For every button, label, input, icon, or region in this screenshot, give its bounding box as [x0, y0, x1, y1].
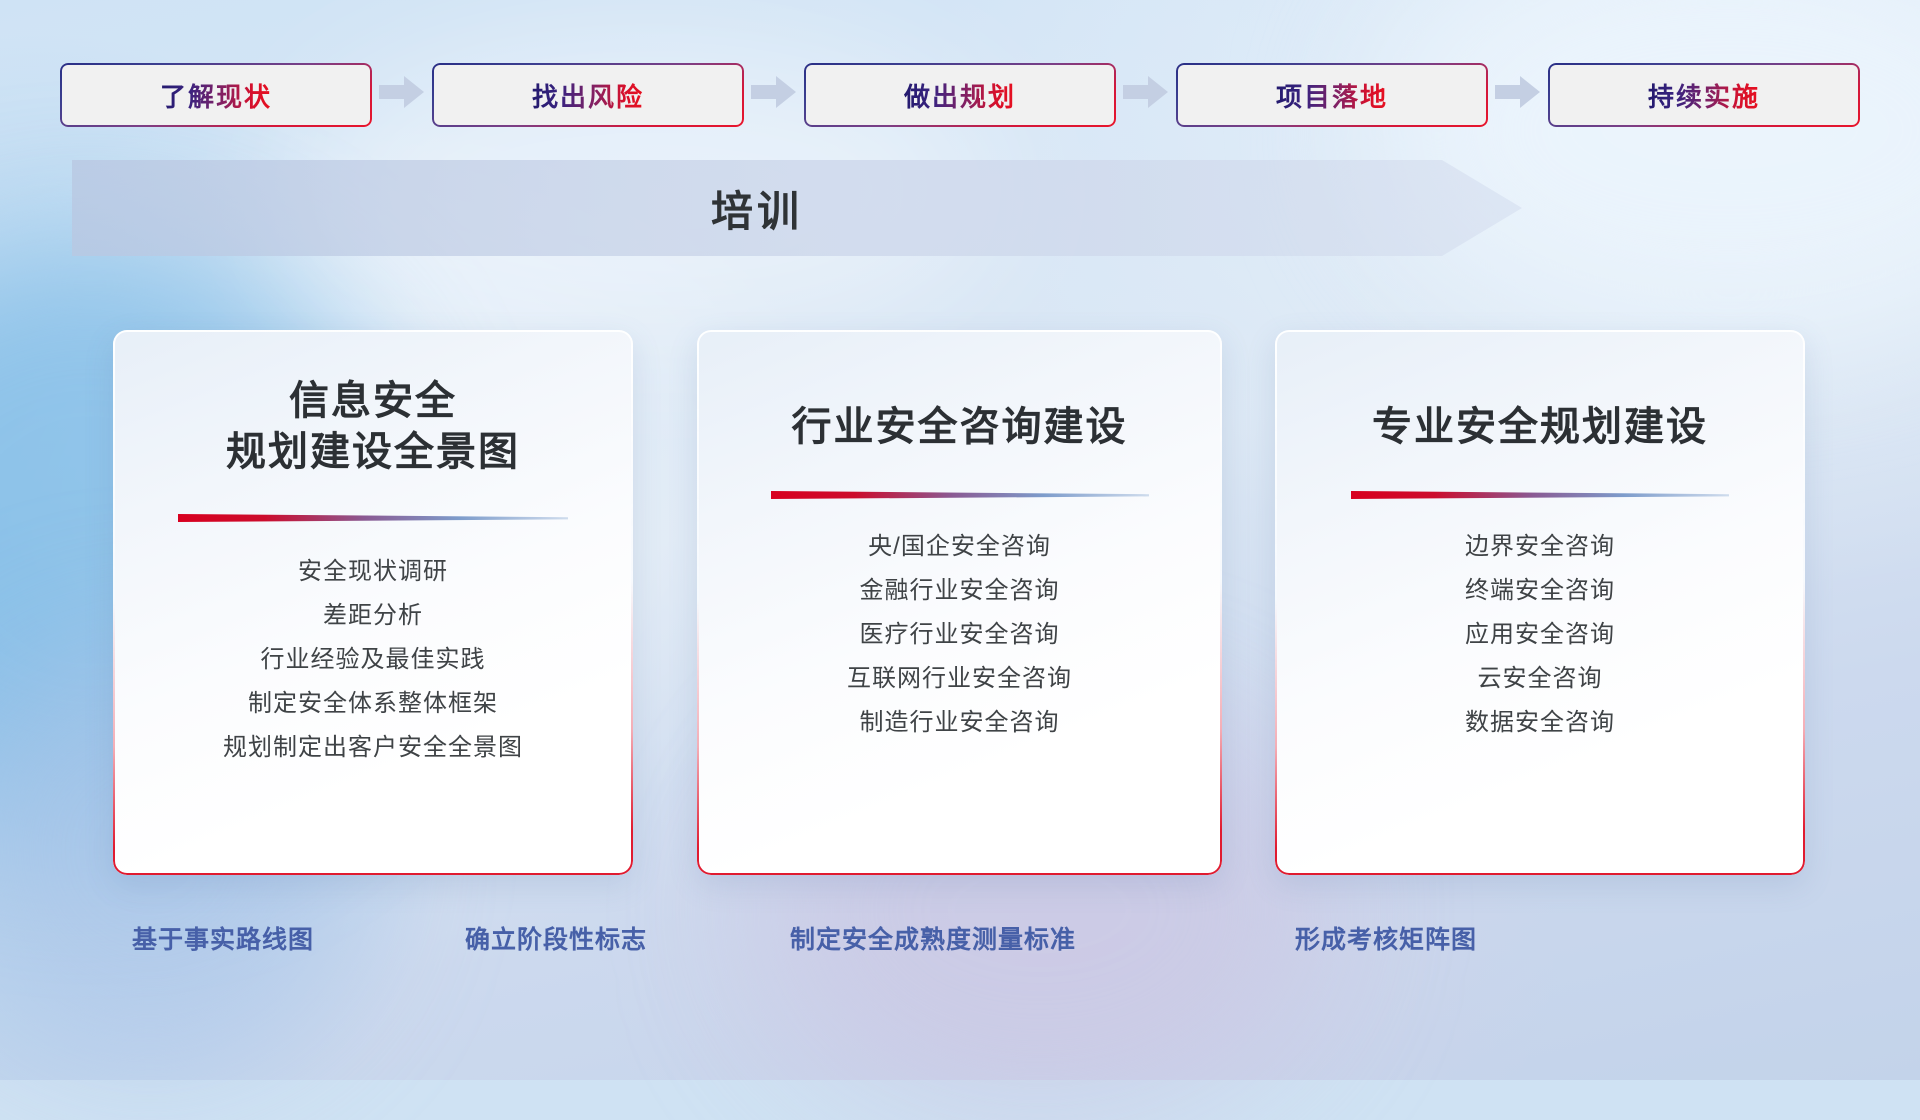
card-information-security[interactable]: 信息安全 规划建设全景图 安全现状调研 差距分析 行: [113, 330, 633, 875]
list-item: 制定安全体系整体框架: [113, 682, 633, 726]
caption-item: 确立阶段性标志: [465, 920, 647, 956]
card-title-line1: 专业安全规划建设: [1275, 402, 1805, 453]
process-step-label: 做出规划: [904, 77, 1016, 114]
list-item: 差距分析: [113, 594, 633, 638]
list-item: 终端安全咨询: [1275, 569, 1805, 613]
list-item: 互联网行业安全咨询: [697, 657, 1222, 701]
list-item: 数据安全咨询: [1275, 701, 1805, 745]
process-step-1[interactable]: 了解现状: [60, 63, 372, 127]
right-block-arrow-icon: [744, 75, 804, 115]
process-step-label: 持续实施: [1648, 77, 1760, 114]
card-item-list: 安全现状调研 差距分析 行业经验及最佳实践 制定安全体系整体框架 规划制定出客户…: [113, 550, 633, 770]
right-block-arrow-icon: [1116, 75, 1176, 115]
card-title: 信息安全 规划建设全景图: [113, 330, 633, 478]
list-item: 安全现状调研: [113, 550, 633, 594]
slide-canvas: 了解现状 找出风险 做出规划 项目落地 持续实施: [0, 0, 1920, 1080]
card-item-list: 央/国企安全咨询 金融行业安全咨询 医疗行业安全咨询 互联网行业安全咨询 制造行…: [697, 525, 1222, 745]
process-step-label: 找出风险: [532, 77, 644, 114]
card-title-line2: 规划建设全景图: [113, 427, 633, 478]
process-step-row: 了解现状 找出风险 做出规划 项目落地 持续实施: [60, 62, 1860, 128]
caption-item: 形成考核矩阵图: [1295, 920, 1477, 956]
card-title-line1: 行业安全咨询建设: [697, 402, 1222, 453]
list-item: 制造行业安全咨询: [697, 701, 1222, 745]
list-item: 边界安全咨询: [1275, 525, 1805, 569]
tapered-accent-line: [178, 512, 568, 524]
list-item: 行业经验及最佳实践: [113, 638, 633, 682]
process-step-2[interactable]: 找出风险: [432, 63, 744, 127]
process-step-3[interactable]: 做出规划: [804, 63, 1116, 127]
list-item: 金融行业安全咨询: [697, 569, 1222, 613]
process-step-label: 项目落地: [1276, 77, 1388, 114]
tapered-accent-line: [1351, 489, 1729, 501]
card-item-list: 边界安全咨询 终端安全咨询 应用安全咨询 云安全咨询 数据安全咨询: [1275, 525, 1805, 745]
process-step-5[interactable]: 持续实施: [1548, 63, 1860, 127]
list-item: 医疗行业安全咨询: [697, 613, 1222, 657]
card-title: 专业安全规划建设: [1275, 330, 1805, 453]
caption-row: 基于事实路线图 确立阶段性标志 制定安全成熟度测量标准 形成考核矩阵图: [0, 920, 1920, 980]
caption-item: 基于事实路线图: [132, 920, 314, 956]
tapered-accent-line: [771, 489, 1149, 501]
training-banner-title: 培训: [72, 160, 1442, 256]
process-step-label: 了解现状: [160, 77, 272, 114]
card-row: 信息安全 规划建设全景图 安全现状调研 差距分析 行: [0, 330, 1920, 875]
training-banner: 培训: [72, 160, 1522, 256]
card-professional-security-planning[interactable]: 专业安全规划建设 边界安全咨询 终端安全咨询 应用安全咨询: [1275, 330, 1805, 875]
list-item: 规划制定出客户安全全景图: [113, 726, 633, 770]
list-item: 央/国企安全咨询: [697, 525, 1222, 569]
caption-item: 制定安全成熟度测量标准: [790, 920, 1076, 956]
process-step-4[interactable]: 项目落地: [1176, 63, 1488, 127]
card-title: 行业安全咨询建设: [697, 330, 1222, 453]
list-item: 云安全咨询: [1275, 657, 1805, 701]
right-block-arrow-icon: [1488, 75, 1548, 115]
card-industry-security-consulting[interactable]: 行业安全咨询建设 央/国企安全咨询 金融行业安全咨询 医疗行业安全咨: [697, 330, 1222, 875]
right-block-arrow-icon: [372, 75, 432, 115]
list-item: 应用安全咨询: [1275, 613, 1805, 657]
card-title-line1: 信息安全: [113, 376, 633, 427]
